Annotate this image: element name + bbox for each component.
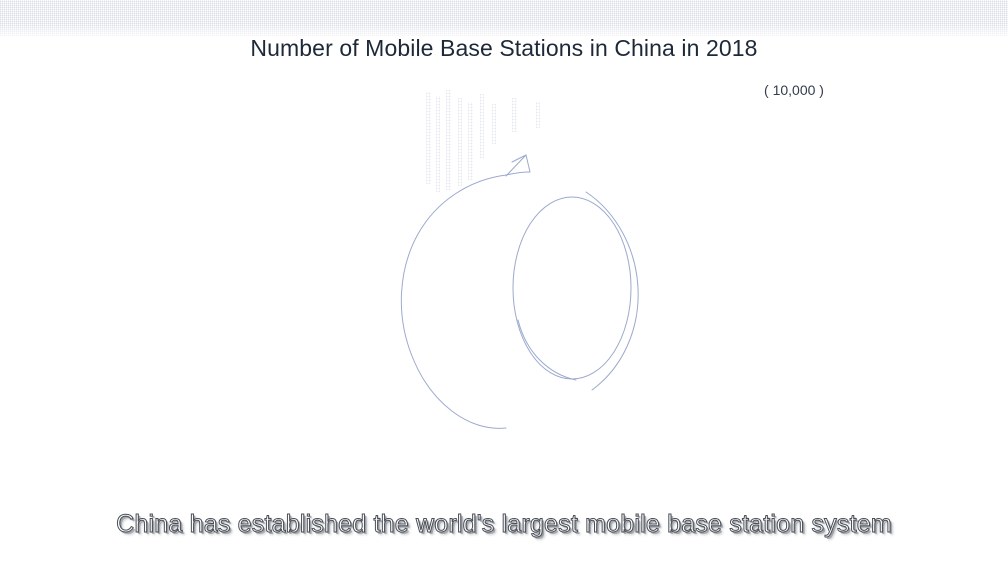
ghost-artifact-leader [512, 98, 517, 132]
ghost-artifact-leader [468, 102, 473, 180]
inner-ellipse-outline [513, 197, 631, 379]
pie-chart-outlines [340, 80, 740, 470]
ghost-artifact-leader [436, 96, 440, 192]
ghost-artifact-leader [492, 104, 496, 144]
exploded-wedge-outline [512, 155, 530, 172]
ghost-artifact-leader [446, 90, 451, 190]
ghost-artifact-leader [480, 94, 484, 158]
ghost-artifact-leader [458, 98, 462, 186]
unit-label: ( 10,000 ) [744, 80, 844, 100]
ghost-artifact-leader [426, 92, 431, 184]
slide-canvas: Number of Mobile Base Stations in China … [0, 0, 1008, 567]
caption-text: China has established the world's larges… [116, 508, 892, 540]
pie-main-arc [401, 175, 506, 428]
caption: China has established the world's larges… [0, 508, 1008, 540]
ghost-artifact-leader [536, 102, 540, 128]
pie-chart [340, 80, 740, 470]
page-title: Number of Mobile Base Stations in China … [0, 33, 1008, 63]
